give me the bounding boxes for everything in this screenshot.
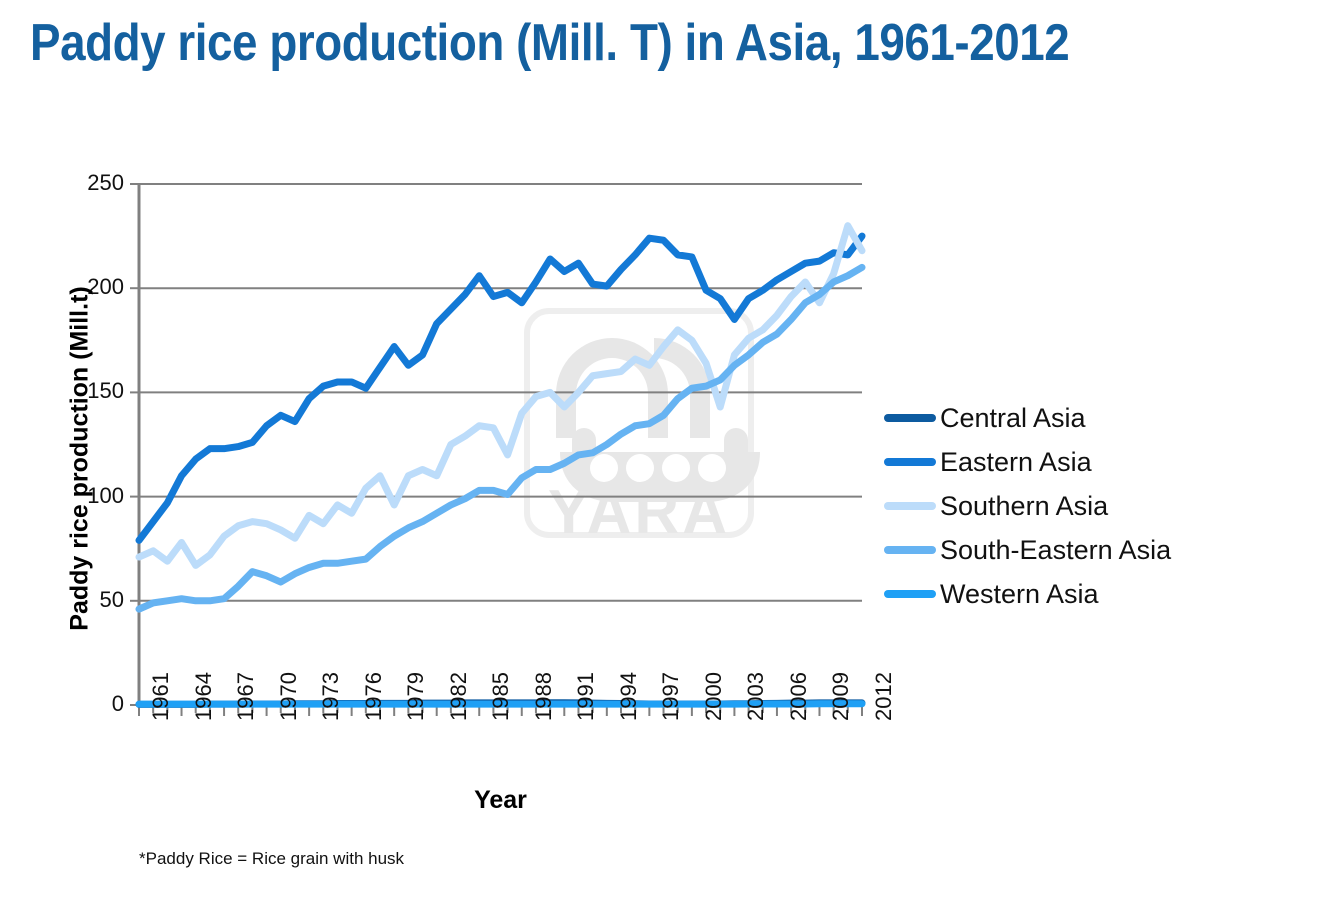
x-tick-label: 1979 <box>403 672 429 721</box>
x-tick-label: 1985 <box>488 672 514 721</box>
x-tick-label: 1961 <box>148 672 174 721</box>
x-tick-label: 2003 <box>743 672 769 721</box>
x-tick-label: 1988 <box>531 672 557 721</box>
legend-swatch-icon <box>884 458 936 466</box>
x-tick-label: 1982 <box>446 672 472 721</box>
legend-swatch-icon <box>884 590 936 598</box>
x-tick-label: 1973 <box>318 672 344 721</box>
footnote: *Paddy Rice = Rice grain with husk <box>139 849 404 869</box>
line-chart: YARA 050100150200250 1961196419671970197… <box>0 0 1341 894</box>
x-tick-label: 1970 <box>276 672 302 721</box>
legend-swatch-icon <box>884 546 936 554</box>
x-tick-label: 2009 <box>828 672 854 721</box>
legend-item-south-eastern-asia[interactable]: South-Eastern Asia <box>884 528 1171 572</box>
legend-item-southern-asia[interactable]: Southern Asia <box>884 484 1108 528</box>
x-tick-label: 1964 <box>191 672 217 721</box>
x-tick-label: 2000 <box>701 672 727 721</box>
x-tick-label: 2006 <box>786 672 812 721</box>
x-tick-label: 1991 <box>573 672 599 721</box>
legend-label: Southern Asia <box>940 491 1108 522</box>
legend-item-western-asia[interactable]: Western Asia <box>884 572 1099 616</box>
x-tick-label: 1994 <box>616 672 642 721</box>
legend-label: Eastern Asia <box>940 447 1092 478</box>
legend-label: Western Asia <box>940 579 1099 610</box>
legend-item-eastern-asia[interactable]: Eastern Asia <box>884 440 1092 484</box>
x-tick-label: 2012 <box>871 672 897 721</box>
x-tick-label: 1967 <box>233 672 259 721</box>
y-axis-title: Paddy rice production (Mill.t) <box>66 179 95 739</box>
x-tick-label: 1997 <box>658 672 684 721</box>
legend-label: Central Asia <box>940 403 1086 434</box>
x-tick-label: 1976 <box>361 672 387 721</box>
x-axis-title: Year <box>139 786 862 815</box>
x-axis-tick-labels: 1961196419671970197319761979198219851988… <box>0 0 1341 894</box>
legend-swatch-icon <box>884 414 936 422</box>
legend-swatch-icon <box>884 502 936 510</box>
legend-item-central-asia[interactable]: Central Asia <box>884 396 1086 440</box>
legend-label: South-Eastern Asia <box>940 535 1171 566</box>
